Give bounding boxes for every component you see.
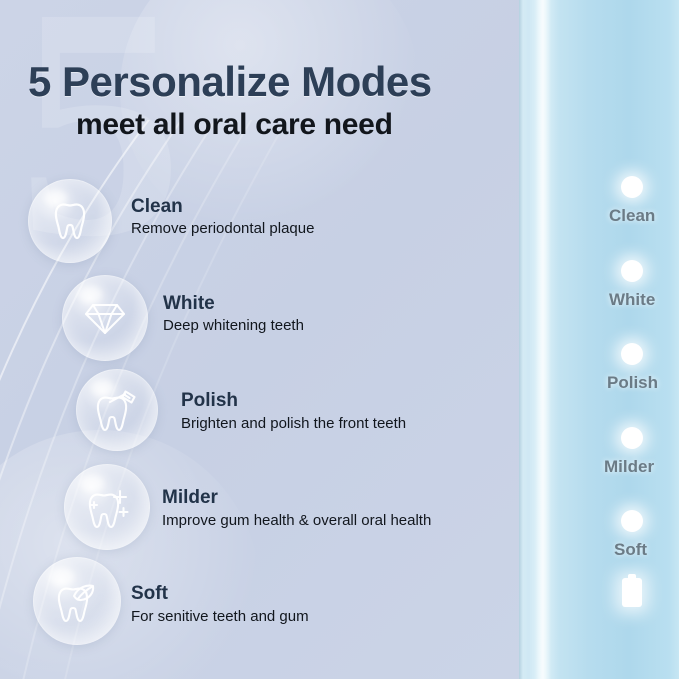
led-label-soft: Soft	[614, 540, 647, 560]
mode-bubble-soft	[33, 557, 121, 645]
toothbrush-device-body: Clean White Polish Milder Soft	[519, 0, 679, 679]
diamond-icon	[84, 299, 126, 337]
infographic-canvas: 5 5 Personalize Modes meet all oral care…	[0, 0, 679, 679]
tooth-icon	[50, 199, 90, 243]
mode-label-clean: Clean	[131, 196, 183, 218]
device-left-edge-shadow	[519, 0, 523, 679]
tooth-brush-icon	[94, 388, 140, 432]
led-label-milder: Milder	[604, 457, 654, 477]
background-glow-bottom	[0, 430, 260, 679]
tooth-leaf-icon	[54, 579, 100, 623]
led-label-polish: Polish	[607, 373, 658, 393]
battery-icon	[622, 578, 642, 607]
mode-description-soft: For senitive teeth and gum	[131, 608, 309, 625]
mode-bubble-milder	[64, 464, 150, 550]
led-label-clean: Clean	[609, 206, 655, 226]
mode-description-polish: Brighten and polish the front teeth	[181, 415, 406, 432]
led-indicator-clean	[621, 176, 643, 198]
mode-bubble-white	[62, 275, 148, 361]
led-indicator-soft	[621, 510, 643, 532]
mode-description-clean: Remove periodontal plaque	[131, 220, 314, 237]
led-indicator-milder	[621, 427, 643, 449]
led-label-white: White	[609, 290, 655, 310]
led-indicator-polish	[621, 343, 643, 365]
mode-description-white: Deep whitening teeth	[163, 317, 304, 334]
mode-label-milder: Milder	[162, 487, 218, 509]
device-highlight-band	[535, 0, 551, 679]
mode-bubble-polish	[76, 369, 158, 451]
mode-label-white: White	[163, 293, 215, 315]
page-subtitle: meet all oral care need	[76, 108, 393, 142]
mode-bubble-clean	[28, 179, 112, 263]
mode-description-milder: Improve gum health & overall oral health	[162, 512, 431, 529]
mode-label-soft: Soft	[131, 583, 168, 605]
led-indicator-white	[621, 260, 643, 282]
mode-label-polish: Polish	[181, 390, 238, 412]
page-title: 5 Personalize Modes	[28, 58, 432, 106]
tooth-sparkle-icon	[83, 484, 131, 530]
